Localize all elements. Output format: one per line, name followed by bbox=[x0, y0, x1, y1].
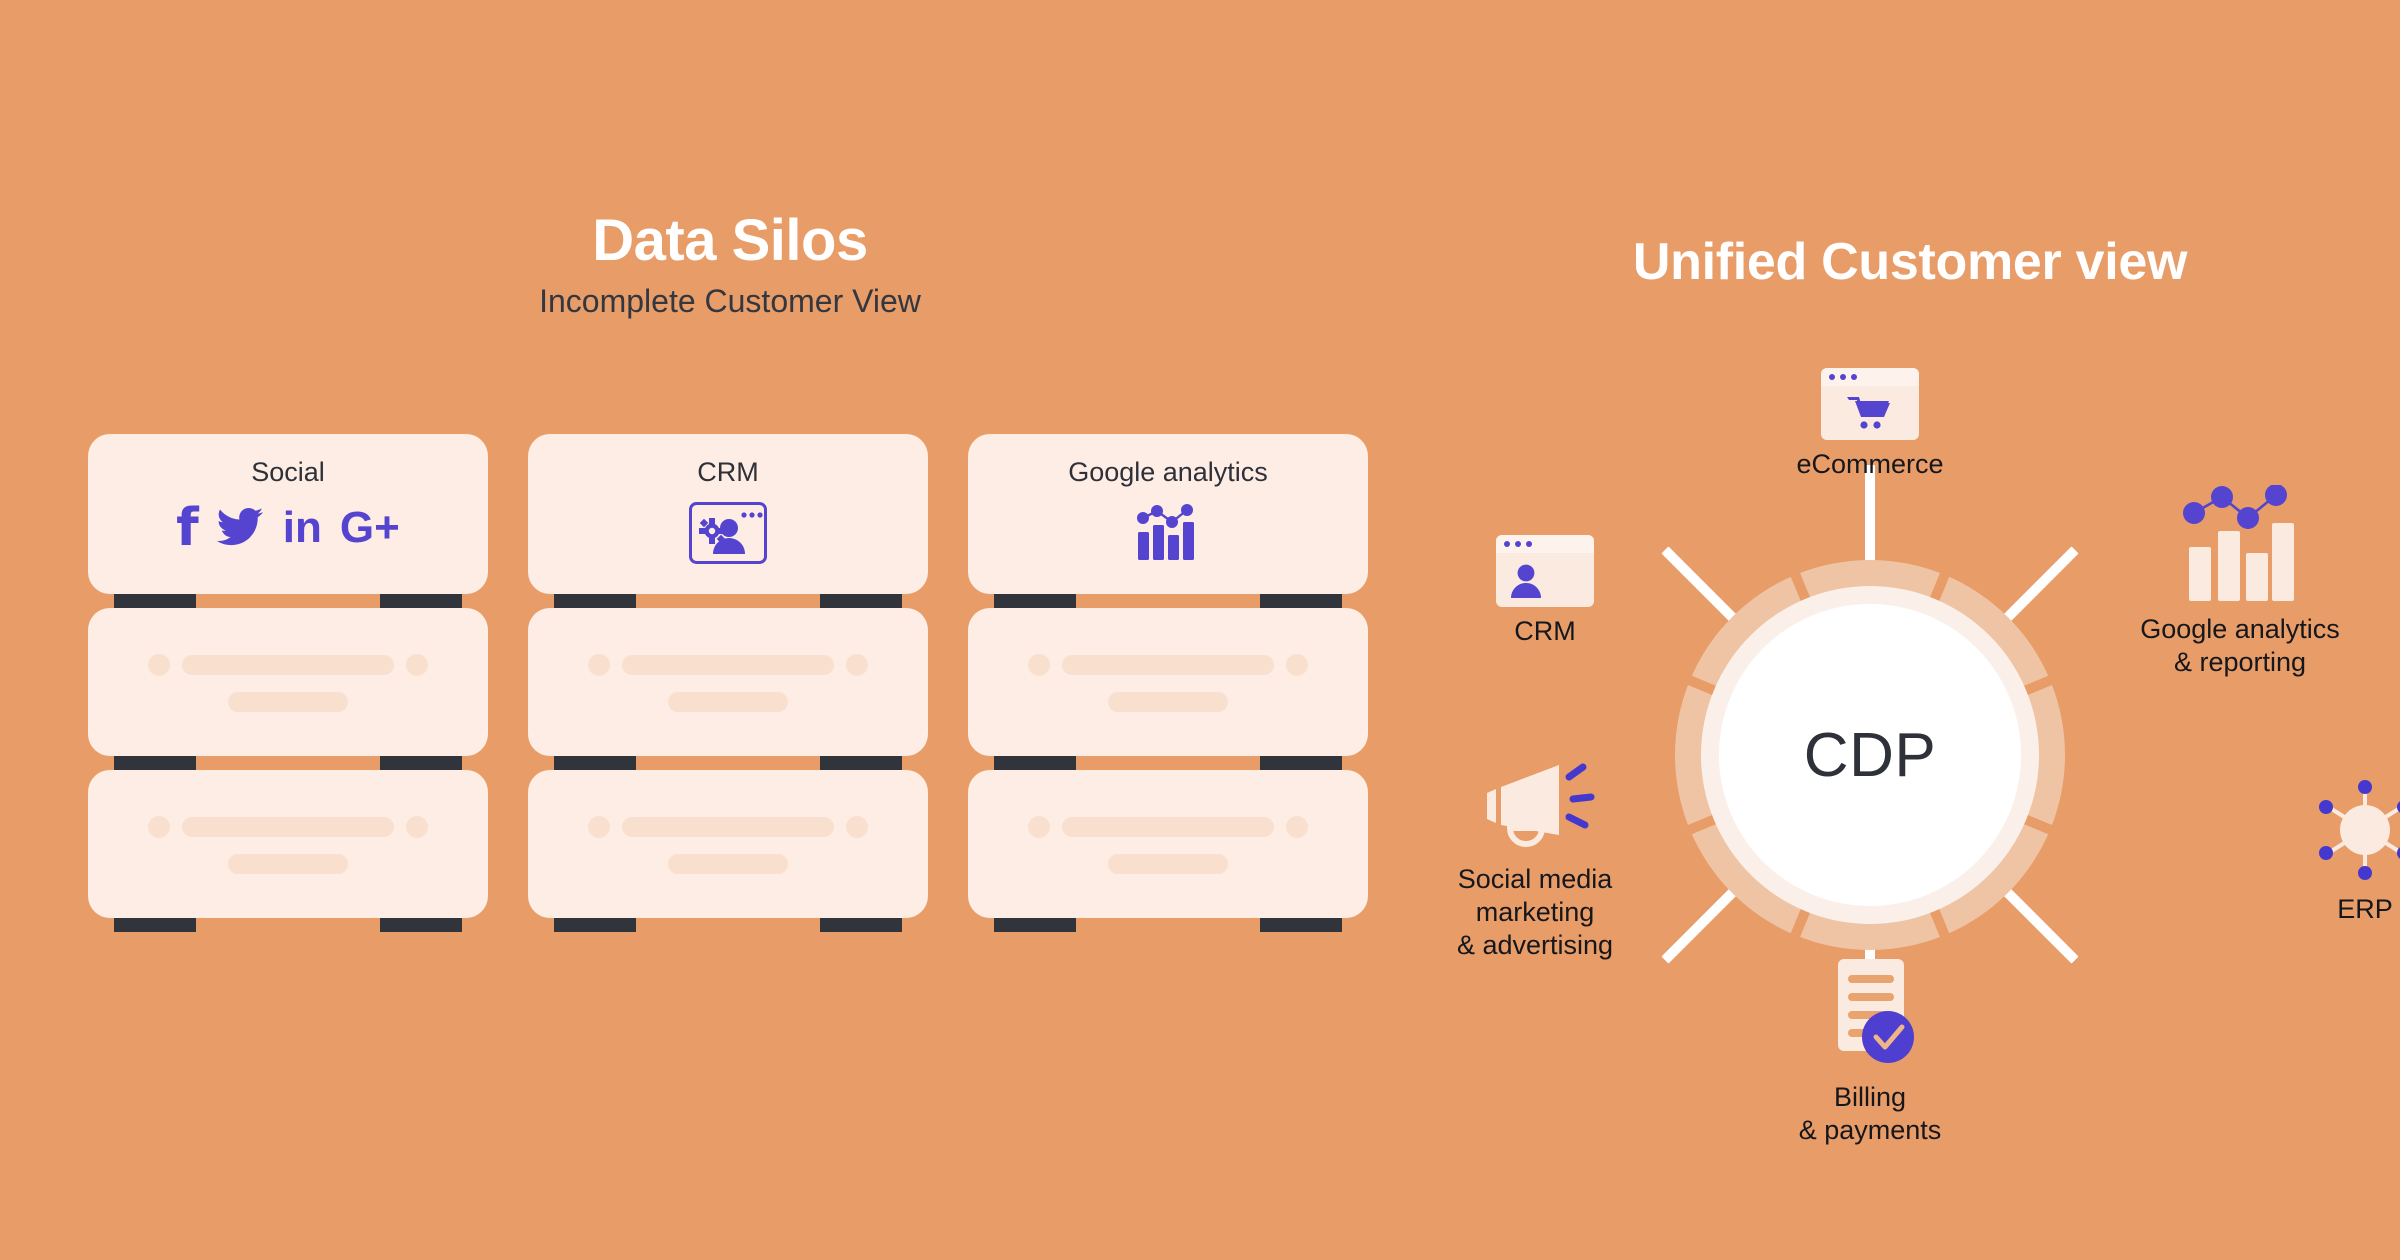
cdp-label: CDP bbox=[1804, 720, 1936, 791]
skeleton-content bbox=[968, 816, 1368, 874]
silo-card-google-analytics-header[interactable]: Google analytics bbox=[968, 434, 1368, 594]
silo-card-placeholder[interactable] bbox=[968, 608, 1368, 756]
foot-left bbox=[554, 756, 636, 770]
skeleton-dot-left bbox=[588, 816, 610, 838]
node-label-line2: & payments bbox=[1720, 1114, 2020, 1147]
skeleton-bar-short bbox=[668, 854, 788, 874]
foot-left bbox=[994, 756, 1076, 770]
unified-customer-view-panel: Unified Customer view CDP bbox=[1420, 0, 2400, 1260]
node-billing[interactable]: Billing & payments bbox=[1720, 955, 2020, 1147]
silo-card-placeholder[interactable] bbox=[968, 770, 1368, 918]
skeleton-bar-long bbox=[182, 655, 394, 675]
skeleton-row bbox=[88, 654, 488, 676]
silo-card-feet bbox=[968, 756, 1368, 770]
silo-card-feet bbox=[528, 918, 928, 932]
foot-right bbox=[1260, 918, 1342, 932]
node-label-line1: Google analytics bbox=[2080, 613, 2400, 646]
silo-card-placeholder[interactable] bbox=[528, 608, 928, 756]
silo-card-title: Google analytics bbox=[968, 457, 1368, 488]
skeleton-row bbox=[968, 654, 1368, 676]
window-dot bbox=[1829, 374, 1835, 380]
node-label-line2: marketing bbox=[1420, 896, 1650, 929]
node-label-line1: Social media bbox=[1420, 863, 1650, 896]
node-ecommerce[interactable]: eCommerce bbox=[1720, 368, 2020, 481]
foot-left bbox=[114, 756, 196, 770]
erp-network-icon bbox=[2275, 775, 2400, 885]
silo-card-feet bbox=[968, 918, 1368, 932]
silo-card-social-header[interactable]: Social f in G+ bbox=[88, 434, 488, 594]
node-label-line1: Billing bbox=[1720, 1081, 2020, 1114]
skeleton-row bbox=[88, 816, 488, 838]
window-dot bbox=[1851, 374, 1857, 380]
skeleton-bar-long bbox=[1062, 655, 1274, 675]
foot-left bbox=[994, 918, 1076, 932]
skeleton-content bbox=[88, 816, 488, 874]
node-label: ERP bbox=[2275, 893, 2400, 926]
silo-column-google-analytics: Google analytics bbox=[968, 434, 1368, 932]
silo-card-placeholder[interactable] bbox=[88, 770, 488, 918]
skeleton-dot-right bbox=[1286, 654, 1308, 676]
window-body bbox=[1821, 386, 1919, 440]
silo-card-feet bbox=[528, 756, 928, 770]
skeleton-dot-right bbox=[846, 816, 868, 838]
window-dot bbox=[1526, 541, 1532, 547]
foot-right bbox=[1260, 756, 1342, 770]
foot-left bbox=[994, 594, 1076, 608]
skeleton-dot-left bbox=[588, 654, 610, 676]
node-erp[interactable]: ERP bbox=[2275, 775, 2400, 926]
node-crm[interactable]: CRM bbox=[1440, 535, 1650, 648]
silo-card-placeholder[interactable] bbox=[528, 770, 928, 918]
silo-card-feet bbox=[528, 594, 928, 608]
window-dot bbox=[1504, 541, 1510, 547]
skeleton-bar-long bbox=[622, 655, 834, 675]
window-body bbox=[1496, 553, 1594, 607]
foot-right bbox=[820, 918, 902, 932]
megaphone-icon bbox=[1420, 755, 1650, 855]
foot-left bbox=[114, 594, 196, 608]
silo-card-feet bbox=[88, 756, 488, 770]
skeleton-bar-long bbox=[1062, 817, 1274, 837]
analytics-bar-chart-icon[interactable] bbox=[1135, 502, 1201, 569]
ecommerce-cart-window-icon bbox=[1720, 368, 2020, 440]
silo-card-feet bbox=[88, 594, 488, 608]
skeleton-row bbox=[528, 816, 928, 838]
silo-column-social: Social f in G+ bbox=[88, 434, 488, 932]
linkedin-icon[interactable]: in bbox=[283, 506, 322, 550]
skeleton-row bbox=[528, 654, 928, 676]
foot-right bbox=[820, 756, 902, 770]
silo-card-title: Social bbox=[88, 457, 488, 488]
foot-right bbox=[1260, 594, 1342, 608]
skeleton-dot-right bbox=[406, 654, 428, 676]
node-label-line2: & reporting bbox=[2080, 646, 2400, 679]
silo-card-crm-header[interactable]: CRM bbox=[528, 434, 928, 594]
browser-window bbox=[1821, 368, 1919, 440]
skeleton-bar-short bbox=[228, 692, 348, 712]
node-social-media[interactable]: Social media marketing & advertising bbox=[1420, 755, 1650, 962]
hub-core: CDP bbox=[1719, 604, 2021, 906]
invoice-check-icon bbox=[1720, 955, 2020, 1073]
cdp-hub: CDP bbox=[1675, 560, 2065, 950]
google-plus-icon[interactable]: G+ bbox=[340, 506, 400, 550]
skeleton-bar-short bbox=[228, 854, 348, 874]
silo-card-placeholder[interactable] bbox=[88, 608, 488, 756]
foot-left bbox=[554, 594, 636, 608]
social-icon-row: f in G+ bbox=[88, 502, 488, 554]
skeleton-bar-long bbox=[182, 817, 394, 837]
page-title: Data Silos bbox=[0, 207, 1460, 274]
browser-window bbox=[1496, 535, 1594, 607]
facebook-icon[interactable]: f bbox=[176, 502, 199, 554]
node-label: eCommerce bbox=[1720, 448, 2020, 481]
skeleton-dot-left bbox=[148, 816, 170, 838]
foot-right bbox=[380, 918, 462, 932]
foot-right bbox=[380, 594, 462, 608]
analytics-bar-chart-icon bbox=[2080, 485, 2400, 605]
skeleton-dot-left bbox=[1028, 816, 1050, 838]
skeleton-dot-right bbox=[406, 816, 428, 838]
node-label-line3: & advertising bbox=[1420, 929, 1650, 962]
analytics-icon-row bbox=[968, 502, 1368, 569]
skeleton-dot-right bbox=[1286, 816, 1308, 838]
node-google-analytics[interactable]: Google analytics & reporting bbox=[2080, 485, 2400, 679]
skeleton-content bbox=[528, 816, 928, 874]
node-label: CRM bbox=[1440, 615, 1650, 648]
skeleton-row bbox=[968, 816, 1368, 838]
skeleton-content bbox=[528, 654, 928, 712]
skeleton-bar-long bbox=[622, 817, 834, 837]
skeleton-bar-short bbox=[1108, 692, 1228, 712]
window-dot bbox=[1840, 374, 1846, 380]
skeleton-dot-left bbox=[148, 654, 170, 676]
foot-left bbox=[554, 918, 636, 932]
skeleton-content bbox=[88, 654, 488, 712]
crm-icon-row bbox=[528, 502, 928, 569]
foot-right bbox=[820, 594, 902, 608]
silo-column-crm: CRM bbox=[528, 434, 928, 932]
silo-card-title: CRM bbox=[528, 457, 928, 488]
skeleton-bar-short bbox=[1108, 854, 1228, 874]
silo-card-feet bbox=[968, 594, 1368, 608]
unified-view-title: Unified Customer view bbox=[1420, 232, 2400, 292]
window-title-bar bbox=[1821, 368, 1919, 386]
skeleton-content bbox=[968, 654, 1368, 712]
window-dot bbox=[1515, 541, 1521, 547]
skeleton-dot-left bbox=[1028, 654, 1050, 676]
data-silos-panel: Data Silos Incomplete Customer View Soci… bbox=[0, 0, 1420, 1260]
silo-card-feet bbox=[88, 918, 488, 932]
crm-person-window-icon bbox=[1440, 535, 1650, 607]
silo-grid: Social f in G+ bbox=[88, 434, 1368, 932]
page-subtitle: Incomplete Customer View bbox=[0, 283, 1460, 320]
foot-right bbox=[380, 756, 462, 770]
window-title-bar bbox=[1496, 535, 1594, 553]
foot-left bbox=[114, 918, 196, 932]
skeleton-dot-right bbox=[846, 654, 868, 676]
crm-window-icon[interactable] bbox=[689, 502, 767, 569]
twitter-icon[interactable] bbox=[217, 506, 265, 551]
skeleton-bar-short bbox=[668, 692, 788, 712]
